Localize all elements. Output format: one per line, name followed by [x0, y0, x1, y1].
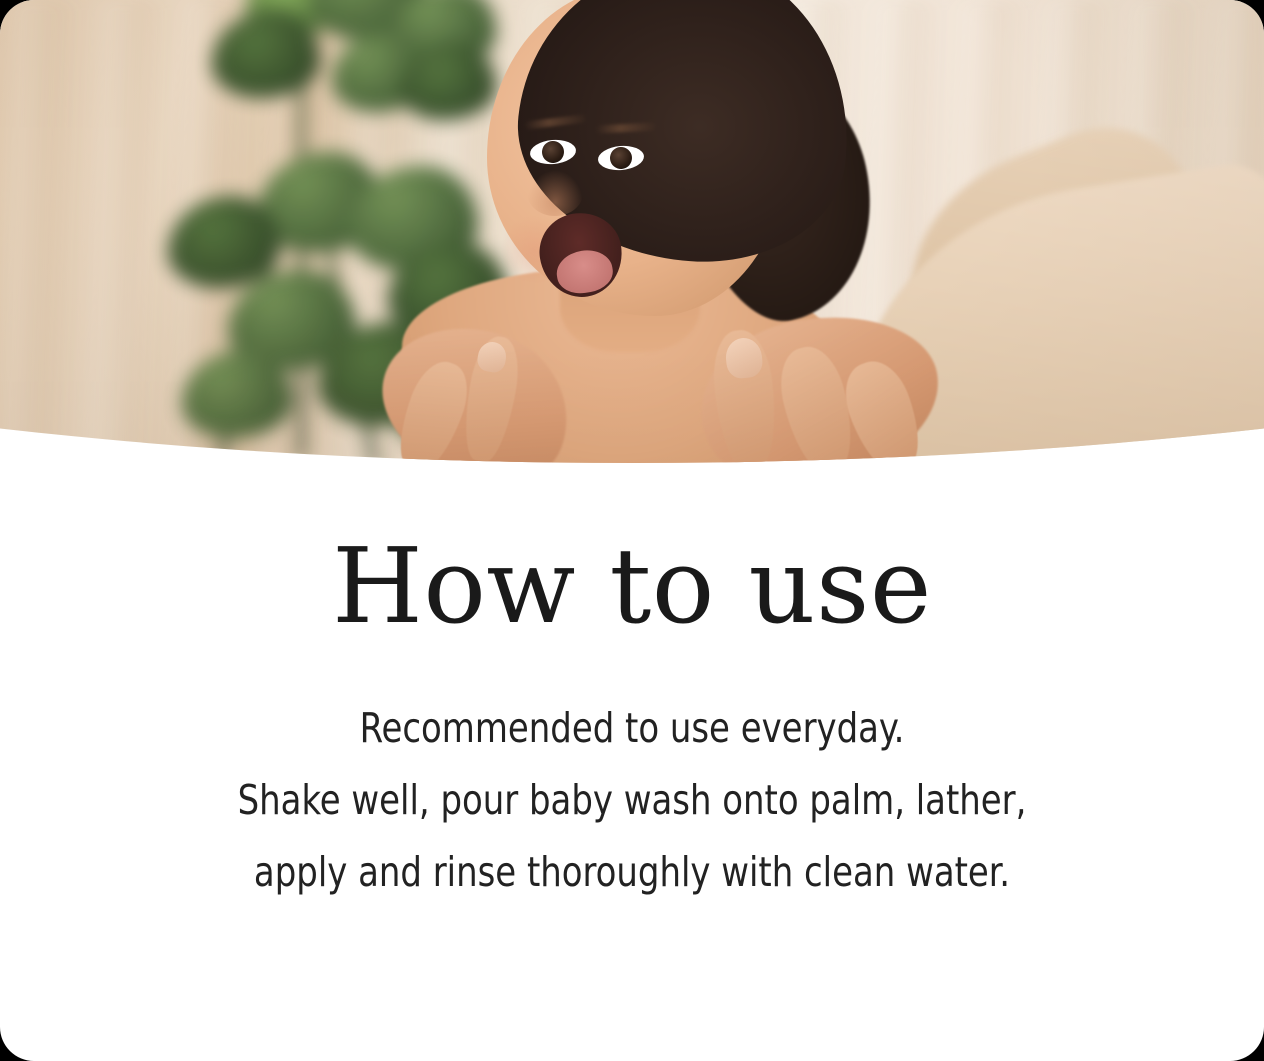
- instructions-paragraph: Recommended to use everyday. Shake well,…: [51, 638, 1214, 908]
- baby-nose: [527, 170, 583, 216]
- text-content: How to use Recommended to use everyday. …: [0, 470, 1264, 908]
- instruction-line-3: apply and rinse thoroughly with clean wa…: [51, 836, 1214, 908]
- how-to-use-card: How to use Recommended to use everyday. …: [0, 0, 1264, 1061]
- baby-photo: [0, 0, 1264, 470]
- page-title: How to use: [0, 470, 1264, 638]
- instruction-line-2: Shake well, pour baby wash onto palm, la…: [51, 764, 1214, 836]
- baby-subject: [0, 0, 1264, 470]
- instruction-line-1: Recommended to use everyday.: [51, 692, 1214, 764]
- hero-section: [0, 0, 1264, 470]
